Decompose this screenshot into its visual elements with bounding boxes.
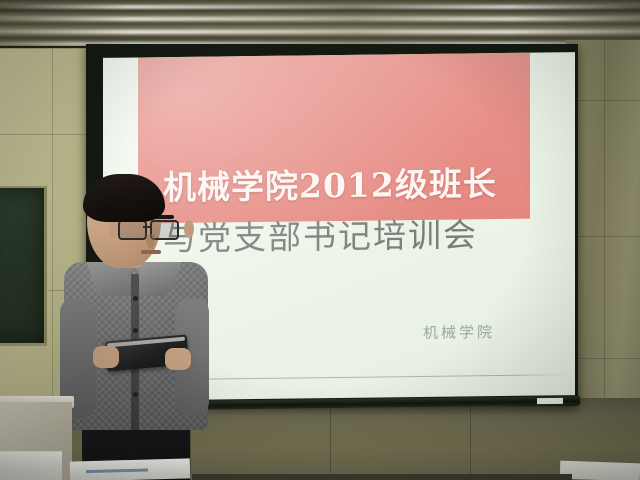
speaker: [60, 178, 210, 480]
ear-right: [184, 220, 194, 238]
hand-right: [165, 348, 191, 370]
papers-stack-left: [0, 452, 62, 480]
speaker-hair: [83, 174, 165, 222]
glasses-bridge: [143, 226, 152, 228]
glasses-lens-left: [118, 220, 147, 240]
ceiling-slats: [0, 0, 640, 50]
hand-left: [93, 346, 119, 368]
mouth: [141, 250, 161, 254]
slide-title-line-1: 机械学院2012级班长: [163, 156, 553, 209]
nose: [146, 234, 155, 248]
papers-stack-center: [70, 458, 190, 480]
slide-title-line-2: 与党支部书记培训会: [163, 207, 563, 260]
blackboard: [0, 186, 47, 346]
classroom-photo: 机械学院2012级班长 与党支部书记培训会 机械学院: [0, 0, 640, 480]
desk-edge: [192, 474, 572, 480]
screen-pull-handle[interactable]: [537, 398, 563, 404]
slide-subtitle: 机械学院: [423, 321, 495, 343]
